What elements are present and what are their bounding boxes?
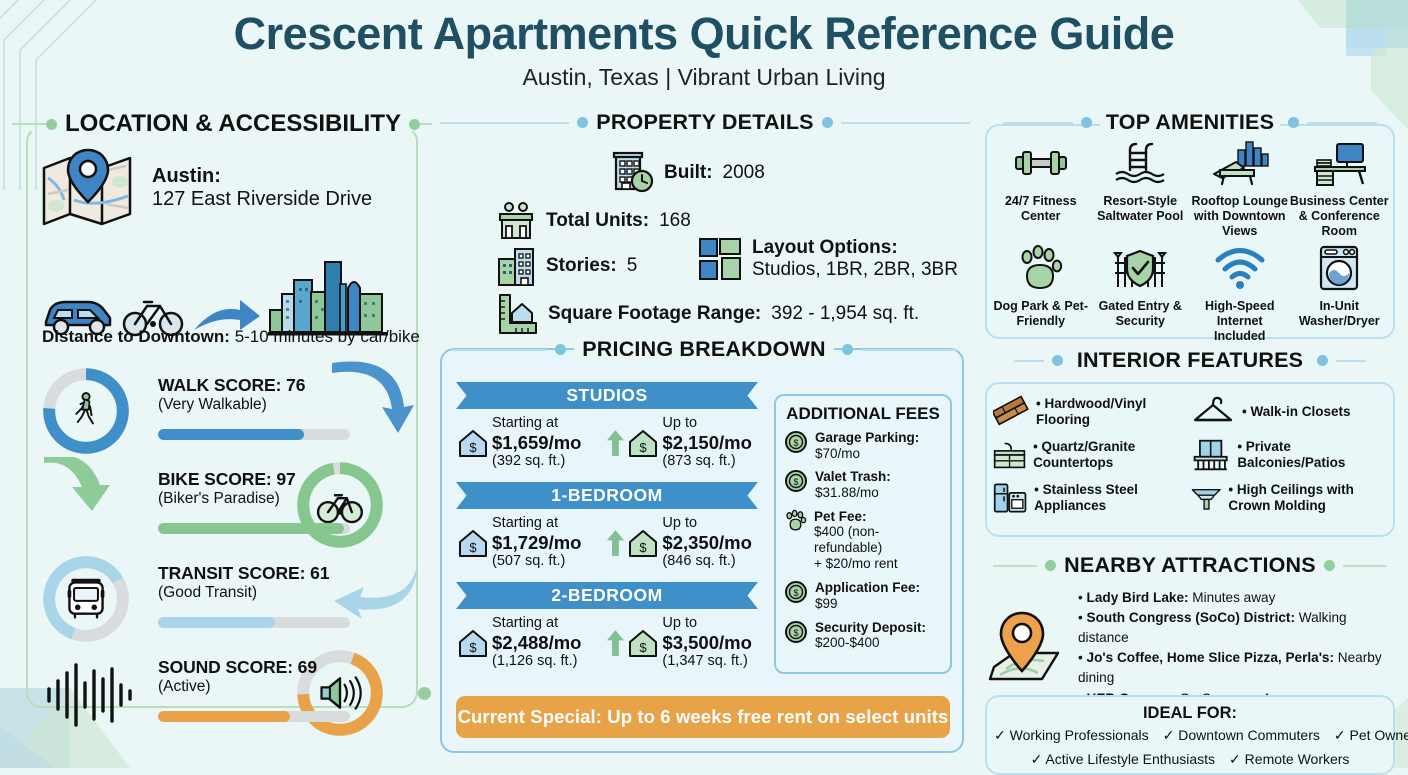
interior-label: • Hardwood/Vinyl Flooring	[1036, 396, 1187, 428]
fee-name: Application Fee:	[815, 580, 920, 596]
tier-banner-2bedroom: 2-BEDROOM	[456, 582, 758, 609]
svg-text:$: $	[469, 640, 477, 655]
property-row-built: Built: 2008	[610, 151, 765, 195]
interior-features-panel: • Hardwood/Vinyl Flooring • Walk-in Clos…	[985, 382, 1395, 537]
walk-score-name: WALK SCORE: 76	[158, 375, 358, 396]
units-value: 168	[659, 210, 691, 232]
nearby-section-title: NEARBY ATTRACTIONS	[1064, 553, 1316, 578]
property-section-header: PROPERTY DETAILS	[440, 110, 970, 135]
interior-section-header: INTERIOR FEATURES	[980, 348, 1400, 373]
pricing-section-header: PRICING BREAKDOWN	[442, 337, 966, 362]
interior-label: • Quartz/Granite Countertops	[1033, 439, 1187, 471]
score-item-transit: TRANSIT SCORE: 61 (Good Transit)	[30, 553, 420, 647]
interior-closets: • Walk-in Closets	[1191, 394, 1385, 430]
coin-icon: $	[784, 430, 808, 454]
property-row-layout: Layout Options: Studios, 1BR, 2BR, 3BR	[698, 237, 958, 281]
built-label: Built:	[664, 162, 713, 184]
lounge-chair-skyline-icon	[1210, 140, 1270, 186]
pricing-tier-studios: STUDIOS $ Starting at $1,659/mo (392 sq.…	[442, 382, 772, 470]
connector-dot-right	[409, 119, 420, 130]
score-item-sound: SOUND SCORE: 69 (Active)	[30, 647, 420, 741]
paw-icon	[784, 509, 807, 533]
built-value: 2008	[723, 162, 765, 184]
apartment-building-icon	[496, 245, 536, 287]
sqft-label: Square Footage Range:	[548, 303, 761, 325]
ideal-for-panel: IDEAL FOR: ✓ Working Professionals✓ Down…	[985, 695, 1395, 775]
property-details-section: PROPERTY DETAILS Built: 2008	[440, 110, 970, 347]
amenity-label: In-Unit Washer/Dryer	[1290, 299, 1390, 329]
building-clock-icon	[610, 151, 654, 195]
transit-score-bar	[158, 617, 350, 628]
up-label: Up to	[662, 616, 772, 632]
house-price-icon-green: $	[628, 428, 658, 458]
start-sqft: (1,126 sq. ft.)	[492, 653, 602, 670]
pricing-panel: PRICING BREAKDOWN STUDIOS $ Starting at …	[440, 348, 964, 753]
location-section-header: LOCATION & ACCESSIBILITY	[12, 110, 432, 138]
walk-score-desc: (Very Walkable)	[158, 396, 358, 414]
fee-row-application: $ Application Fee: $99	[784, 580, 942, 611]
bike-score-desc: (Biker's Paradise)	[158, 490, 358, 508]
distance-label: Distance to Downtown:	[42, 327, 230, 346]
fees-title: ADDITIONAL FEES	[784, 404, 942, 424]
floorplan-icon	[698, 237, 742, 281]
flow-arrow-right-icon	[42, 457, 112, 519]
ideal-item: ✓ Downtown Commuters	[1163, 727, 1320, 743]
bus-icon	[68, 579, 105, 618]
property-section-title: PROPERTY DETAILS	[596, 110, 813, 135]
start-sqft: (507 sq. ft.)	[492, 553, 602, 570]
additional-fees-panel: ADDITIONAL FEES $ Garage Parking: $70/mo…	[774, 394, 952, 674]
pricing-section-title: PRICING BREAKDOWN	[574, 337, 833, 362]
ideal-for-row-1: ✓ Working Professionals✓ Downtown Commut…	[987, 725, 1393, 747]
dumbbell-icon	[1013, 140, 1069, 186]
ceiling-molding-icon	[1191, 480, 1221, 516]
interior-appliances: • Stainless Steel Appliances	[993, 480, 1187, 516]
fee-amount: $70/mo	[815, 446, 919, 462]
up-sqft: (1,347 sq. ft.)	[662, 653, 772, 670]
svg-text:$: $	[793, 438, 798, 448]
tier-banner-1bedroom: 1-BEDROOM	[456, 482, 758, 509]
arrow-up-icon	[606, 426, 625, 460]
start-label: Starting at	[492, 616, 602, 632]
amenity-label: Resort-Style Saltwater Pool	[1091, 194, 1191, 224]
gate-shield-icon	[1111, 245, 1169, 291]
sound-score-desc: (Active)	[158, 678, 358, 696]
transport-illustration	[42, 258, 388, 338]
start-label: Starting at	[492, 516, 602, 532]
property-row-stories: Stories: 5	[496, 245, 637, 287]
interior-flooring: • Hardwood/Vinyl Flooring	[993, 394, 1187, 430]
wifi-icon	[1213, 245, 1267, 291]
connector-dot-right	[1317, 355, 1328, 366]
connector-dot-left	[555, 344, 566, 355]
interior-label: • Walk-in Closets	[1242, 404, 1351, 420]
city-skyline-icon	[268, 258, 388, 338]
nearby-item: Lady Bird Lake: Minutes away	[1078, 588, 1396, 608]
washer-icon	[1315, 245, 1363, 291]
arrow-up-icon	[606, 626, 625, 660]
layout-label: Layout Options:	[752, 238, 958, 259]
layout-value: Studios, 1BR, 2BR, 3BR	[752, 259, 958, 281]
interior-label: • High Ceilings with Crown Molding	[1228, 482, 1385, 514]
walking-person-icon	[76, 393, 93, 423]
fee-amount: $400 (non-refundable) + $20/mo rent	[814, 524, 942, 572]
interior-section-title: INTERIOR FEATURES	[1071, 348, 1309, 373]
house-price-icon-green: $	[628, 528, 658, 558]
amenities-section-title: TOP AMENITIES	[1100, 110, 1280, 135]
page-subtitle: Austin, Texas | Vibrant Urban Living	[0, 64, 1408, 91]
current-special-banner: Current Special: Up to 6 weeks free rent…	[456, 696, 950, 738]
nearby-item: Jo's Coffee, Home Slice Pizza, Perla's: …	[1078, 648, 1396, 688]
people-units-icon	[496, 201, 536, 241]
amenity-rooftop: Rooftop Lounge with Downtown Views	[1190, 140, 1290, 239]
sound-score-bar	[158, 711, 350, 722]
fee-name: Security Deposit:	[815, 620, 926, 636]
property-row-sqft: Square Footage Range: 392 - 1,954 sq. ft…	[496, 293, 919, 335]
ruler-house-icon	[496, 293, 538, 335]
coin-icon: $	[784, 580, 808, 604]
start-price: $1,729/mo	[492, 532, 602, 553]
interior-label: • Stainless Steel Appliances	[1034, 482, 1187, 514]
sqft-value: 392 - 1,954 sq. ft.	[771, 303, 919, 325]
fridge-oven-icon	[993, 480, 1027, 516]
amenity-label: High-Speed Internet Included	[1190, 299, 1290, 344]
page-title: Crescent Apartments Quick Reference Guid…	[0, 8, 1408, 60]
up-price: $3,500/mo	[662, 632, 772, 653]
tier-name: 2-BEDROOM	[456, 582, 758, 609]
start-sqft: (392 sq. ft.)	[492, 453, 602, 470]
pool-ladder-icon	[1112, 140, 1168, 186]
countertop-icon	[993, 438, 1026, 472]
connector-dot-right	[1324, 560, 1335, 571]
amenity-internet: High-Speed Internet Included	[1190, 245, 1290, 344]
svg-text:$: $	[469, 540, 477, 555]
flow-arrow-left-icon	[324, 559, 420, 631]
svg-text:$: $	[640, 540, 648, 555]
interior-label: • Private Balconies/Patios	[1237, 439, 1385, 471]
transit-score-gauge	[40, 553, 132, 645]
house-price-icon-blue: $	[458, 428, 488, 458]
waveform-icon	[44, 663, 136, 727]
fee-name: Valet Trash:	[815, 469, 891, 485]
map-pin-icon	[986, 609, 1068, 687]
ideal-item: ✓ Pet Owners	[1334, 727, 1408, 743]
coin-icon: $	[784, 469, 808, 493]
start-price: $2,488/mo	[492, 632, 602, 653]
nearby-item: South Congress (SoCo) District: Walking …	[1078, 608, 1396, 648]
connector-dot-left	[1052, 355, 1063, 366]
amenity-label: Rooftop Lounge with Downtown Views	[1190, 194, 1290, 239]
fee-name: Pet Fee:	[814, 509, 942, 525]
amenity-label: Gated Entry & Security	[1091, 299, 1191, 329]
house-price-icon-blue: $	[458, 528, 488, 558]
tier-name: STUDIOS	[456, 382, 758, 409]
map-fold-icon	[40, 148, 136, 228]
amenity-dogpark: Dog Park & Pet-Friendly	[991, 245, 1091, 344]
fee-row-pet: Pet Fee: $400 (non-refundable) + $20/mo …	[784, 509, 942, 572]
fee-amount: $31.88/mo	[815, 485, 891, 501]
fee-row-garage: $ Garage Parking: $70/mo	[784, 430, 942, 461]
coin-icon: $	[784, 620, 808, 644]
balcony-icon	[1191, 437, 1230, 473]
stories-value: 5	[627, 255, 638, 277]
units-label: Total Units:	[546, 210, 649, 232]
nearby-section-header: NEARBY ATTRACTIONS	[980, 553, 1400, 578]
location-accessibility-section: LOCATION & ACCESSIBILITY Austin: 127 Eas…	[12, 110, 432, 725]
ideal-item: ✓ Active Lifestyle Enthusiasts	[1031, 751, 1215, 767]
walk-score-gauge	[40, 365, 132, 457]
tier-name: 1-BEDROOM	[456, 482, 758, 509]
bike-score-bar	[158, 523, 350, 534]
fee-row-deposit: $ Security Deposit: $200-$400	[784, 620, 942, 651]
start-price: $1,659/mo	[492, 432, 602, 453]
fee-amount: $99	[815, 596, 920, 612]
ideal-item: ✓ Remote Workers	[1229, 751, 1349, 767]
distance-to-downtown: Distance to Downtown: 5-10 minutes by ca…	[42, 327, 420, 347]
fee-amount: $200-$400	[815, 635, 926, 651]
up-sqft: (846 sq. ft.)	[662, 553, 772, 570]
ideal-item: ✓ Working Professionals	[994, 727, 1149, 743]
connector-dot-right	[1288, 117, 1299, 128]
sound-score-name: SOUND SCORE: 69	[158, 657, 358, 678]
connector-dot-right	[842, 344, 853, 355]
start-label: Starting at	[492, 416, 602, 432]
connector-dot-left	[1045, 560, 1056, 571]
flow-arrow-down-right-icon	[330, 361, 420, 441]
stories-label: Stories:	[546, 255, 617, 277]
city-label: Austin:	[152, 165, 372, 188]
street-address: 127 East Riverside Drive	[152, 188, 372, 211]
up-price: $2,150/mo	[662, 432, 772, 453]
score-item-bike: BIKE SCORE: 97 (Biker's Paradise)	[30, 459, 420, 553]
svg-text:$: $	[469, 440, 477, 455]
desk-computer-icon	[1309, 140, 1369, 186]
up-sqft: (873 sq. ft.)	[662, 453, 772, 470]
amenity-business: Business Center & Conference Room	[1290, 140, 1390, 239]
property-row-units: Total Units: 168	[496, 201, 691, 241]
bike-score-name: BIKE SCORE: 97	[158, 469, 358, 490]
ideal-for-title: IDEAL FOR:	[987, 704, 1393, 723]
connector-dot-right	[822, 117, 833, 128]
arrow-up-icon	[606, 526, 625, 560]
connector-dot-left	[577, 117, 588, 128]
paw-icon	[1015, 245, 1067, 291]
house-price-icon-green: $	[628, 628, 658, 658]
svg-text:$: $	[640, 440, 648, 455]
nearby-attractions-list: Lady Bird Lake: Minutes away South Congr…	[986, 588, 1396, 709]
amenity-label: Business Center & Conference Room	[1290, 194, 1390, 239]
amenities-section-header: TOP AMENITIES	[980, 110, 1400, 135]
amenity-washer: In-Unit Washer/Dryer	[1290, 245, 1390, 344]
nearby-list: Lady Bird Lake: Minutes away South Congr…	[1078, 588, 1396, 709]
hanger-icon	[1191, 395, 1235, 429]
address-block: Austin: 127 East Riverside Drive	[40, 148, 372, 228]
svg-text:$: $	[793, 628, 798, 638]
score-item-walk: WALK SCORE: 76 (Very Walkable)	[30, 365, 420, 459]
distance-value: 5-10 minutes by car/bike	[235, 327, 420, 346]
svg-text:$: $	[793, 477, 798, 487]
tier-banner-studios: STUDIOS	[456, 382, 758, 409]
interior-ceilings: • High Ceilings with Crown Molding	[1191, 480, 1385, 516]
up-price: $2,350/mo	[662, 532, 772, 553]
connector-dot-left	[46, 119, 57, 130]
up-label: Up to	[662, 416, 772, 432]
fee-name: Garage Parking:	[815, 430, 919, 446]
amenity-fitness: 24/7 Fitness Center	[991, 140, 1091, 239]
property-details-list: Built: 2008 Total Units: 168	[440, 149, 970, 347]
wood-plank-icon	[993, 394, 1029, 430]
pricing-tier-1bedroom: 1-BEDROOM $ Starting at $1,729/mo (507 s…	[442, 482, 772, 570]
interior-countertops: • Quartz/Granite Countertops	[993, 437, 1187, 473]
connector-dot-left	[1081, 117, 1092, 128]
svg-text:$: $	[640, 640, 648, 655]
interior-balconies: • Private Balconies/Patios	[1191, 437, 1385, 473]
fee-row-valet: $ Valet Trash: $31.88/mo	[784, 469, 942, 500]
connector-dot-bottom	[418, 687, 431, 700]
house-price-icon-blue: $	[458, 628, 488, 658]
amenities-panel: 24/7 Fitness Center Resort-Style Saltwat…	[985, 124, 1395, 339]
up-label: Up to	[662, 516, 772, 532]
ideal-for-row-2: ✓ Active Lifestyle Enthusiasts✓ Remote W…	[987, 749, 1393, 771]
amenity-gated: Gated Entry & Security	[1091, 245, 1191, 344]
amenity-label: 24/7 Fitness Center	[991, 194, 1091, 224]
amenity-label: Dog Park & Pet-Friendly	[991, 299, 1091, 329]
walk-score-bar	[158, 429, 350, 440]
location-section-title: LOCATION & ACCESSIBILITY	[65, 110, 401, 138]
page-header: Crescent Apartments Quick Reference Guid…	[0, 8, 1408, 91]
amenity-pool: Resort-Style Saltwater Pool	[1091, 140, 1191, 239]
svg-text:$: $	[793, 588, 798, 598]
pricing-tier-2bedroom: 2-BEDROOM $ Starting at $2,488/mo (1,126…	[442, 582, 772, 670]
